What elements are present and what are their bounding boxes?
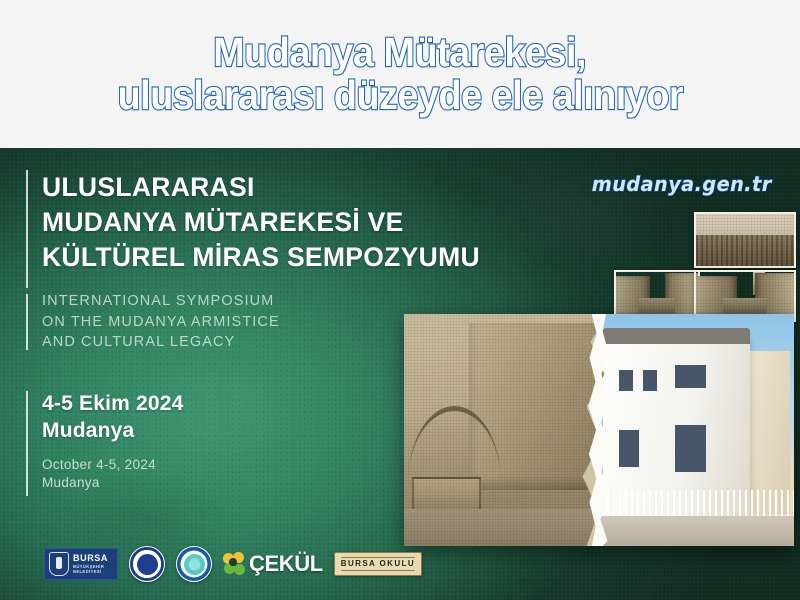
poster-title-line-1: ULUSLARARASI xyxy=(42,170,562,205)
cekul-petal xyxy=(234,564,245,575)
site-watermark: mudanya.gen.tr xyxy=(592,172,772,196)
photo-grain xyxy=(696,272,794,320)
poster-place-en: Mudanya xyxy=(42,474,372,493)
bursa-logo-line-1: BURSA xyxy=(73,554,108,563)
poster-date-block: 4-5 Ekim 2024 Mudanya October 4-5, 2024 … xyxy=(42,390,372,493)
screenshot-root: Mudanya Mütarekesi, uluslararası düzeyde… xyxy=(0,0,800,600)
logo-bursa-buyuksehir-belediyesi: BURSA BÜYÜKŞEHİR BELEDİYESİ xyxy=(44,548,118,580)
historic-panorama-photo xyxy=(694,212,796,268)
poster-subtitle-line-1: INTERNATIONAL SYMPOSIUM xyxy=(42,291,442,312)
accent-rule-subtitle xyxy=(26,294,28,350)
mudanya-armistice-house-then-and-now xyxy=(404,314,794,546)
logo-cekul: ÇEKÜL xyxy=(223,552,323,576)
logo-bursa-okulu: BURSA OKULU xyxy=(334,552,422,576)
poster-subtitle-line-2: ON THE MUDANYA ARMISTICE xyxy=(42,312,442,333)
poster-date-en: October 4-5, 2024 xyxy=(42,456,372,475)
bursa-logo-line-3: BELEDİYESİ xyxy=(73,570,108,574)
house-window xyxy=(619,370,633,391)
seal-emblem-icon xyxy=(184,554,205,575)
poster-title: ULUSLARARASI MUDANYA MÜTAREKESİ VE KÜLTÜ… xyxy=(42,170,562,276)
accent-rule-date xyxy=(26,391,28,496)
bursa-crest-icon xyxy=(49,552,69,576)
poster-subtitle: INTERNATIONAL SYMPOSIUM ON THE MUDANYA A… xyxy=(42,291,442,353)
poster-title-line-2: MUDANYA MÜTAREKESİ VE xyxy=(42,205,562,240)
logo-university-seal-2 xyxy=(176,546,212,582)
accent-rule-title xyxy=(26,170,28,288)
photo-ground xyxy=(595,516,794,546)
headline-line-2: uluslararası düzeyde ele alınıyor xyxy=(117,75,683,117)
bursa-logo-text: BURSA BÜYÜKŞEHİR BELEDİYESİ xyxy=(73,554,108,574)
cekul-flower-icon xyxy=(223,552,247,576)
house-window xyxy=(675,425,707,471)
photo-modern-half xyxy=(595,314,794,546)
bursa-okulu-label: BURSA OKULU xyxy=(341,557,415,571)
poster-subtitle-line-3: AND CULTURAL LEGACY xyxy=(42,332,442,353)
photo-grain xyxy=(616,272,698,320)
poster-date-tr: 4-5 Ekim 2024 xyxy=(42,390,372,417)
headline-line-1: Mudanya Mütarekesi, xyxy=(214,32,587,74)
house-roof xyxy=(603,328,750,344)
logo-university-seal-1 xyxy=(129,546,165,582)
poster-place-tr: Mudanya xyxy=(42,417,372,444)
poster-title-line-3: KÜLTÜREL MİRAS SEMPOZYUMU xyxy=(42,240,562,275)
photo-grain xyxy=(696,214,794,266)
seal-emblem-icon xyxy=(137,554,158,575)
iron-fence xyxy=(595,490,794,516)
headline-band: Mudanya Mütarekesi, uluslararası düzeyde… xyxy=(0,0,800,148)
cekul-label: ÇEKÜL xyxy=(249,553,323,575)
house-window xyxy=(619,430,639,467)
event-poster: ULUSLARARASI MUDANYA MÜTAREKESİ VE KÜLTÜ… xyxy=(0,148,800,600)
house-window xyxy=(643,370,657,391)
cekul-petal-center xyxy=(229,558,237,566)
sponsor-logo-bar: BURSA BÜYÜKŞEHİR BELEDİYESİ xyxy=(44,542,414,586)
house-window xyxy=(675,365,707,388)
photo-historic-half xyxy=(404,314,607,546)
photo-grain xyxy=(404,314,607,546)
